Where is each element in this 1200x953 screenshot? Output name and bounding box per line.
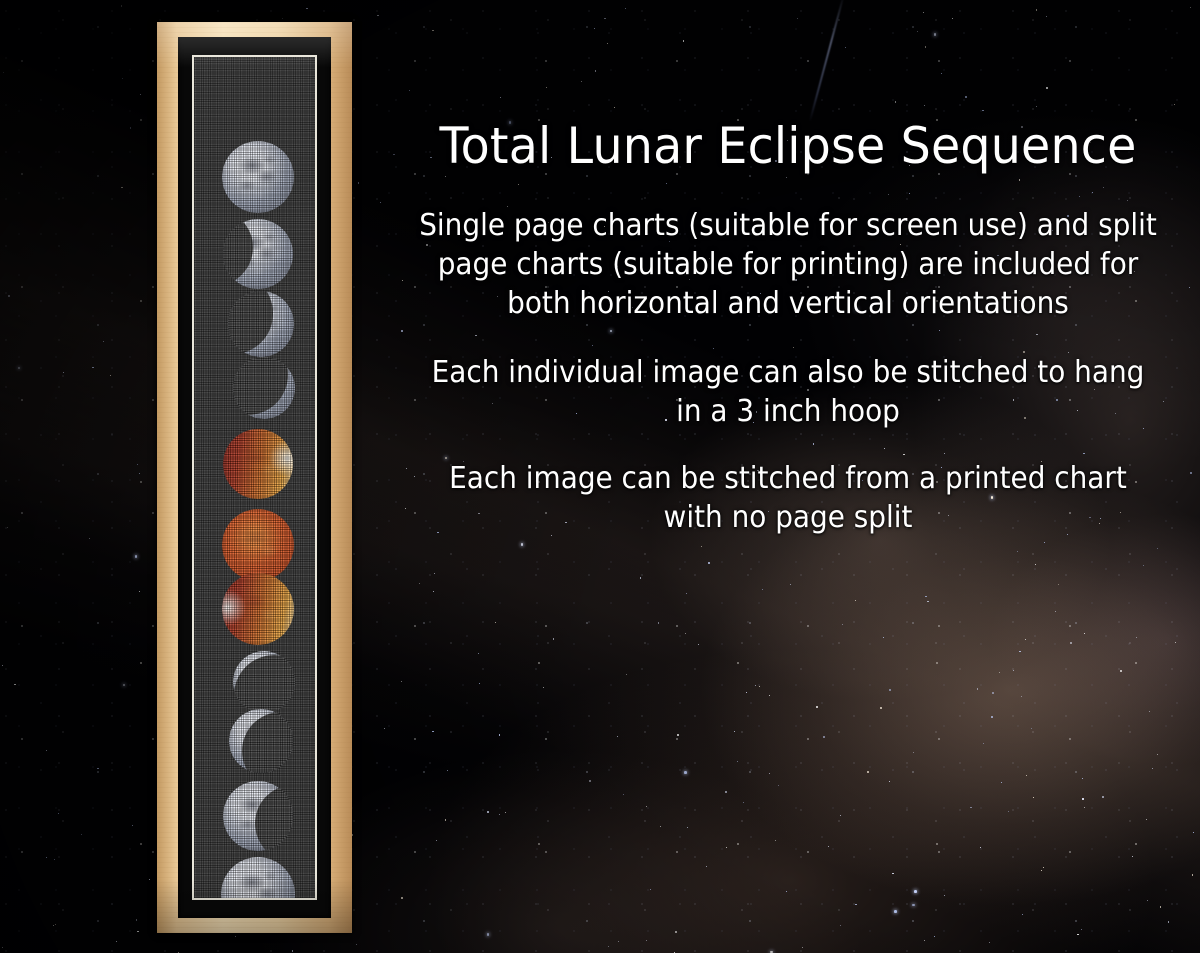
moon-surface-detail: [233, 651, 295, 713]
cross-stitch-texture: [229, 709, 293, 773]
moon-disc: [233, 651, 295, 713]
poster-canvas: Total Lunar Eclipse Sequence Single page…: [0, 0, 1200, 953]
mat-inner-border: [192, 55, 317, 900]
moon-crescent-umbra-entering: [233, 357, 295, 419]
moon-totality-mid-red: [222, 509, 294, 581]
moon-disc: [222, 509, 294, 581]
moon-disc: [223, 219, 293, 289]
umbral-shadow: [234, 655, 294, 713]
cross-stitch-texture: [233, 357, 295, 419]
umbral-shadow: [223, 219, 253, 286]
moon-totality-begin-red: [223, 429, 293, 499]
moon-surface-detail: [222, 509, 294, 581]
moon-surface-detail: [228, 291, 294, 357]
moon-disc: [223, 781, 293, 851]
cross-stitch-texture: [223, 219, 293, 289]
cross-stitch-texture: [222, 573, 294, 645]
cross-stitch-texture: [223, 429, 293, 499]
moon-half-umbra-leaving: [229, 709, 293, 773]
frame-mat: [178, 37, 331, 918]
bright-limb-highlight: [222, 573, 294, 645]
cross-stitch-texture: [222, 141, 294, 213]
moon-gibbous-umbra-leaving: [223, 781, 293, 851]
moon-disc: [222, 573, 294, 645]
moon-disc: [222, 141, 294, 213]
description-paragraph-1: Single page charts (suitable for screen …: [416, 206, 1160, 323]
moon-surface-detail: [222, 573, 294, 645]
umbral-shadow: [233, 357, 288, 415]
moon-surface-detail: [223, 429, 293, 499]
cross-stitch-texture: [223, 781, 293, 851]
moon-surface-detail: [223, 781, 293, 851]
description-paragraph-2: Each individual image can also be stitch…: [416, 353, 1160, 431]
moon-disc: [228, 291, 294, 357]
moon-disc: [221, 857, 295, 898]
moon-disc: [233, 357, 295, 419]
moon-full-moon-pre-eclipse: [222, 141, 294, 213]
cross-stitch-texture: [222, 509, 294, 581]
moon-full-moon-post-eclipse: [221, 857, 295, 898]
moon-surface-detail: [223, 219, 293, 289]
moon-surface-detail: [229, 709, 293, 773]
moon-surface-detail: [233, 357, 295, 419]
moon-disc: [229, 709, 293, 773]
cross-stitch-texture: [233, 651, 295, 713]
picture-frame: [157, 22, 352, 933]
page-title: Total Lunar Eclipse Sequence: [408, 120, 1168, 172]
bright-limb-highlight: [223, 429, 293, 499]
moon-crescent-umbra-leaving: [233, 651, 295, 713]
moon-surface-detail: [221, 857, 295, 898]
cross-stitch-texture: [221, 857, 295, 898]
moon-disc: [223, 429, 293, 499]
moon-half-umbra-entering: [228, 291, 294, 357]
umbral-shadow: [242, 712, 293, 773]
moon-totality-end-red: [222, 573, 294, 645]
description-paragraph-3: Each image can be stitched from a printe…: [416, 459, 1160, 537]
copy-block: Total Lunar Eclipse Sequence Single page…: [388, 120, 1188, 537]
aida-fabric: [194, 57, 315, 898]
moon-surface-detail: [222, 141, 294, 213]
umbral-shadow: [255, 785, 292, 852]
umbral-shadow: [228, 291, 274, 354]
cross-stitch-texture: [228, 291, 294, 357]
moon-gibbous-umbra-entering: [223, 219, 293, 289]
